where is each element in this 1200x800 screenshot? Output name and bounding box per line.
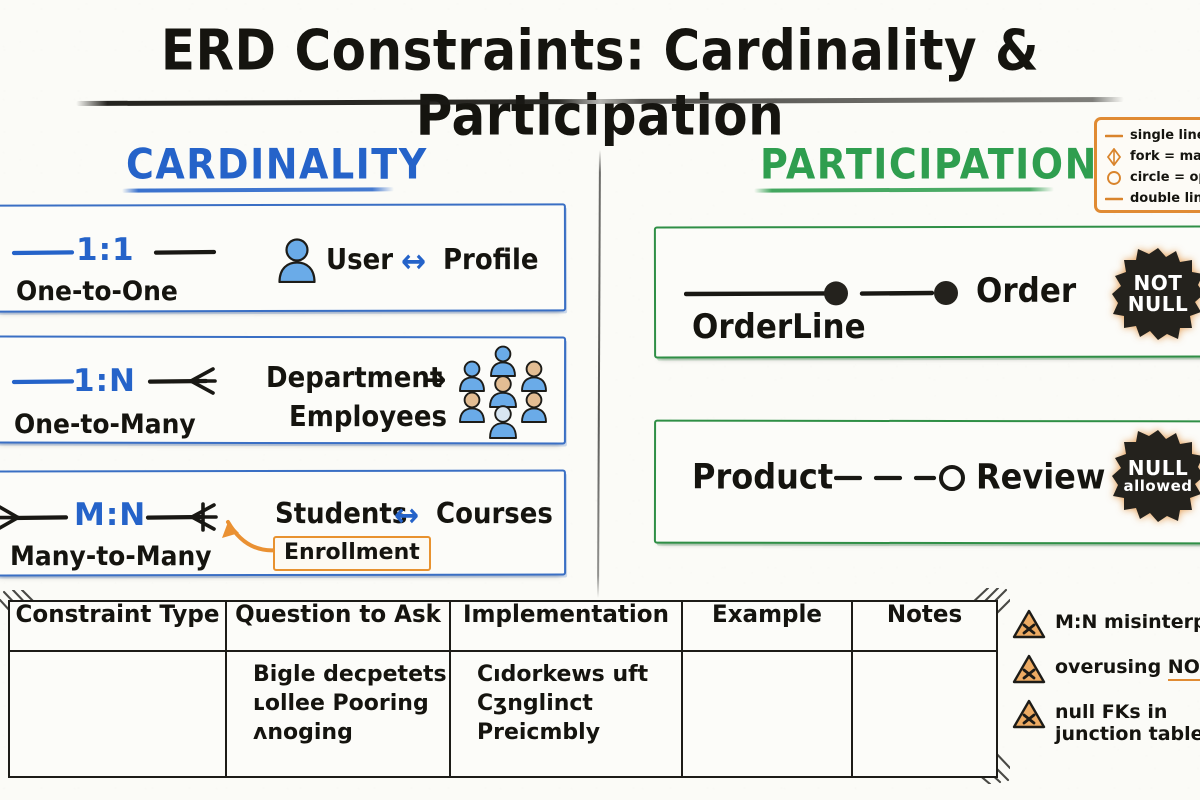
warning-triangle-icon bbox=[1012, 609, 1046, 644]
pitfall-label: overusing NOT NULL bbox=[1055, 653, 1200, 678]
table: Constraint Type Question to Ask Implemen… bbox=[8, 600, 998, 778]
many-to-many-example-arrow: ↔ bbox=[394, 497, 419, 535]
pitfall-label: M:N misinterpreted bbox=[1055, 608, 1200, 633]
pitfall-label-emphasis: NOT NULL bbox=[1168, 656, 1200, 681]
cardinality-heading-underline bbox=[122, 187, 394, 192]
cell-example bbox=[682, 651, 852, 777]
cell-text bbox=[10, 652, 225, 660]
one-to-many-label: One-to-Many bbox=[14, 408, 196, 439]
cardinality-heading: CARDINALITY bbox=[126, 140, 428, 188]
one-to-many-example-arrow: → bbox=[422, 361, 446, 398]
double-line-icon bbox=[1105, 195, 1123, 203]
pitfall-label-text: overusing bbox=[1055, 656, 1168, 678]
notation-legend: single line fork = many circle = optiona… bbox=[1094, 117, 1200, 213]
cell-line: Bigle decpetets bbox=[253, 660, 449, 689]
one-to-many-notation: 1:N bbox=[73, 363, 136, 399]
participation-heading: PARTICIPATION bbox=[760, 140, 1098, 188]
table-header-row: Constraint Type Question to Ask Implemen… bbox=[9, 601, 997, 651]
badge-line-2: allowed bbox=[1124, 479, 1193, 495]
legend-item-fork: fork = many bbox=[1105, 146, 1200, 167]
pitfall-item: null FKs in junction table bbox=[1012, 698, 1200, 746]
th-example: Example bbox=[682, 600, 852, 653]
th-notes: Notes bbox=[852, 600, 997, 653]
cell-line: ʟollee Pooring bbox=[253, 689, 449, 718]
one-to-one-example-arrow: ↔ bbox=[401, 243, 426, 281]
legend-label: circle = optional bbox=[1130, 170, 1200, 185]
enrollment-callout: Enrollment bbox=[273, 536, 431, 571]
one-to-one-example-right: Profile bbox=[443, 244, 539, 276]
legend-item-single-line: single line bbox=[1105, 125, 1200, 146]
cell-line: Preicmbly bbox=[477, 718, 681, 747]
enrollment-callout-arrow bbox=[206, 508, 282, 556]
pitfalls-list: M:N misinterpreted overusing NOT NULL bbox=[1012, 608, 1200, 755]
many-to-many-example-left: Students bbox=[275, 498, 407, 530]
one-to-one-label: One-to-One bbox=[16, 275, 178, 306]
one-to-one-example-left: User bbox=[326, 244, 393, 276]
th-question-to-ask: Question to Ask bbox=[226, 600, 450, 653]
null-allowed-badge: NULL allowed bbox=[1112, 430, 1200, 522]
table-row: Bigle decpetets ʟollee Pooring ʌnoging C… bbox=[9, 651, 997, 777]
cell-notes bbox=[852, 651, 997, 777]
pitfall-line: junction table bbox=[1055, 723, 1200, 745]
one-to-one-notation: 1:1 bbox=[76, 232, 135, 268]
partial-participation-entity-right: Review bbox=[976, 456, 1105, 497]
cell-question-to-ask: Bigle decpetets ʟollee Pooring ʌnoging bbox=[226, 651, 450, 777]
one-to-many-example-left: Department bbox=[266, 362, 442, 394]
cell-text-lines: Cıdorkews uft Cʒnglinct Preicmbly bbox=[451, 652, 681, 747]
pitfall-item: overusing NOT NULL bbox=[1012, 653, 1200, 689]
legend-item-double-line: double line bbox=[1105, 188, 1200, 209]
not-null-badge: NOT NULL bbox=[1112, 248, 1200, 340]
partial-participation-connector bbox=[834, 456, 970, 496]
legend-label: fork = many bbox=[1130, 149, 1200, 164]
participation-heading-underline bbox=[754, 187, 1054, 192]
many-to-many-label: Many-to-Many bbox=[10, 540, 212, 571]
badge-line-1: NOT bbox=[1134, 273, 1183, 294]
total-participation-entity-left: OrderLine bbox=[692, 308, 866, 347]
cell-line: ʌnoging bbox=[253, 718, 449, 747]
cell-line: Cıdorkews uft bbox=[477, 660, 681, 689]
single-line-icon bbox=[1105, 133, 1123, 139]
warning-triangle-icon bbox=[1012, 699, 1046, 734]
pitfall-line: null FKs in bbox=[1055, 701, 1200, 723]
single-person-icon bbox=[276, 237, 318, 283]
cell-text bbox=[853, 652, 996, 660]
cell-text bbox=[683, 652, 851, 660]
whiteboard-canvas: ERD Constraints: Cardinality & Participa… bbox=[0, 0, 1200, 800]
warning-triangle-icon bbox=[1012, 654, 1046, 689]
column-divider bbox=[597, 150, 601, 598]
one-to-many-example-right: Employees bbox=[289, 401, 447, 433]
cell-text-lines: Bigle decpetets ʟollee Pooring ʌnoging bbox=[227, 652, 449, 747]
people-group-icon bbox=[448, 344, 558, 442]
cell-implementation: Cıdorkews uft Cʒnglinct Preicmbly bbox=[450, 651, 682, 777]
legend-label: double line bbox=[1130, 191, 1200, 206]
page-title: ERD Constraints: Cardinality & Participa… bbox=[0, 18, 1200, 148]
many-to-many-notation: M:N bbox=[74, 497, 146, 533]
th-implementation: Implementation bbox=[450, 600, 682, 653]
constraint-summary-table: Constraint Type Question to Ask Implemen… bbox=[8, 600, 998, 778]
th-constraint-type: Constraint Type bbox=[9, 600, 226, 653]
badge-line-2: NULL bbox=[1128, 294, 1188, 315]
legend-item-circle: circle = optional bbox=[1105, 167, 1200, 188]
legend-label: single line bbox=[1130, 128, 1200, 143]
many-to-many-example-right: Courses bbox=[436, 498, 553, 530]
total-participation-entity-right: Order bbox=[976, 272, 1076, 311]
cell-line: Cʒnglinct bbox=[477, 689, 681, 718]
open-circle-icon bbox=[1105, 170, 1123, 186]
cell-constraint-type bbox=[9, 651, 226, 777]
partial-participation-entity-left: Product bbox=[692, 456, 833, 497]
pitfall-label: null FKs in junction table bbox=[1055, 698, 1200, 746]
pitfall-item: M:N misinterpreted bbox=[1012, 608, 1200, 644]
badge-line-1: NULL bbox=[1128, 458, 1188, 479]
fork-diamond-icon bbox=[1105, 148, 1123, 166]
